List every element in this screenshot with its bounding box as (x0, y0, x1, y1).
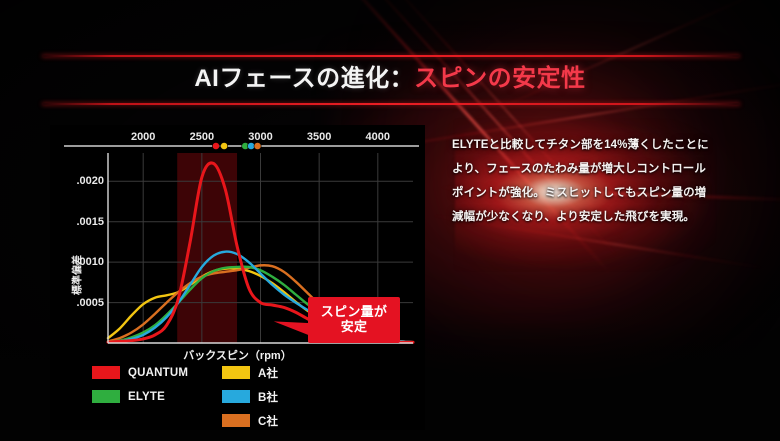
legend-label: QUANTUM (128, 367, 188, 379)
x-tick-label: 4000 (366, 131, 390, 143)
x-tick-label: 3500 (307, 131, 331, 143)
legend-item: A社 (222, 362, 278, 383)
legend-column-1: QUANTUMELYTE (92, 362, 188, 410)
legend-swatch (92, 366, 120, 379)
legend-item: C社 (222, 410, 278, 430)
callout-line-1: スピン量が (321, 305, 388, 320)
y-tick-label: .0020 (76, 175, 104, 187)
description-line-2: より、フェースのたわみ量が増大しコントロール (452, 157, 734, 181)
legend-column-2: A社B社C社 (222, 362, 278, 430)
legend-swatch (222, 366, 250, 379)
x-tick-label: 3000 (248, 131, 272, 143)
legend-item: B社 (222, 386, 278, 407)
y-tick-label: .0015 (76, 216, 104, 228)
title-rule-top (42, 55, 740, 57)
callout-line-2: 安定 (341, 320, 368, 335)
mean-marker-QUANTUM (212, 142, 219, 149)
title-rule-bottom (42, 103, 740, 105)
legend-label: B社 (258, 389, 278, 405)
chart-panel: 20002500300035004000.0005.0010.0015.0020… (50, 125, 425, 430)
x-tick-label: 2500 (190, 131, 214, 143)
legend-label: ELYTE (128, 391, 165, 403)
y-axis-title: 標準偏差 (69, 255, 84, 295)
description-line-4: 減幅が少なくなり、より安定した飛びを実現。 (452, 205, 734, 229)
legend-swatch (222, 414, 250, 427)
x-tick-label: 2000 (131, 131, 155, 143)
description-line-3: ポイントが強化。ミスヒットしてもスピン量の増 (452, 181, 734, 205)
legend-label: C社 (258, 413, 278, 429)
page-title-accent: スピンの安定性 (414, 65, 586, 92)
legend-swatch (222, 390, 250, 403)
x-axis-title: バックスピン（rpm） (50, 347, 425, 363)
description-text: ELYTEと比較してチタン部を14%薄くしたことに より、フェースのたわみ量が増… (452, 133, 734, 229)
legend-item: QUANTUM (92, 362, 188, 383)
legend-item: ELYTE (92, 386, 188, 407)
page-title: AIフェースの進化：スピンの安定性 (0, 58, 780, 100)
page-title-primary: AIフェースの進化： (194, 65, 414, 92)
mean-marker-C社 (254, 142, 261, 149)
legend-swatch (92, 390, 120, 403)
y-tick-label: .0005 (76, 297, 104, 309)
description-line-1: ELYTEと比較してチタン部を14%薄くしたことに (452, 133, 734, 157)
mean-marker-B社 (248, 142, 255, 149)
callout-box: スピン量が 安定 (308, 297, 400, 343)
title-block: AIフェースの進化：スピンの安定性 (0, 50, 780, 110)
legend-label: A社 (258, 365, 278, 381)
mean-marker-A社 (221, 142, 228, 149)
